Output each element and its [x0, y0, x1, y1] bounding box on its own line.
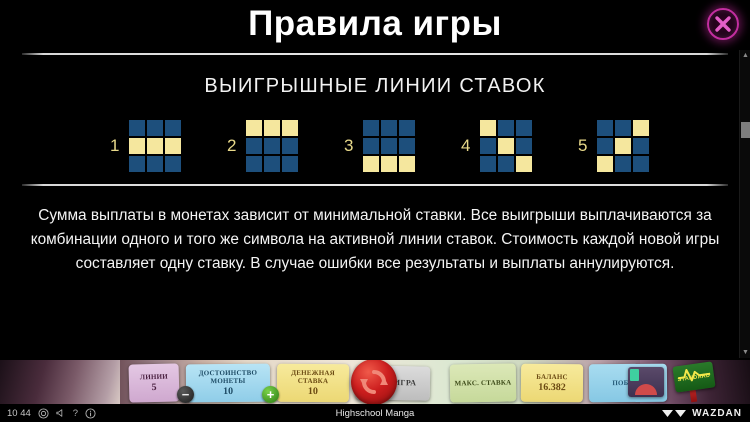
- payline-cell-inactive: [129, 156, 145, 172]
- payline-cell-inactive: [363, 120, 379, 136]
- brand-name: WAZDAN: [692, 408, 742, 419]
- payline-cell-inactive: [516, 138, 532, 154]
- wazdan-logo-icon: [662, 408, 688, 419]
- payline-number: 4: [459, 136, 471, 156]
- balance-value: 16.382: [538, 382, 566, 393]
- payline-cell-inactive: [129, 120, 145, 136]
- payline-item: 1: [108, 120, 181, 172]
- payline-cell-inactive: [498, 156, 514, 172]
- help-icon[interactable]: ?: [73, 408, 78, 419]
- lines-caption: ЛИНИИ: [140, 373, 168, 382]
- game-thumbnail-icon[interactable]: [628, 367, 664, 397]
- volatility-badge[interactable]: STANDARD: [672, 362, 716, 402]
- settings-icon[interactable]: [38, 408, 49, 419]
- payline-number: 1: [108, 136, 120, 156]
- payline-grid: [480, 120, 532, 172]
- clock-time: 10 44: [7, 408, 31, 419]
- paylines-subtitle: ВЫИГРЫШНЫЕ ЛИНИИ СТАВОК: [0, 75, 750, 98]
- payline-cell-active: [264, 120, 280, 136]
- rules-paragraph: Сумма выплаты в монетах зависит от миним…: [22, 204, 728, 276]
- max-bet-caption: МАКС. СТАВКА: [455, 379, 512, 388]
- payline-cell-inactive: [597, 120, 613, 136]
- payline-cell-active: [363, 156, 379, 172]
- payline-cell-inactive: [516, 120, 532, 136]
- payline-cell-active: [498, 138, 514, 154]
- payline-cell-active: [129, 138, 145, 154]
- dome-shape: [635, 384, 657, 395]
- payline-cell-active: [615, 138, 631, 154]
- cash-bet-value: 10: [308, 386, 318, 397]
- payline-item: 4: [459, 120, 532, 172]
- payline-grid: [597, 120, 649, 172]
- payline-cell-inactive: [246, 138, 262, 154]
- payline-grid: [363, 120, 415, 172]
- lines-value: 5: [151, 382, 156, 393]
- payline-cell-active: [282, 120, 298, 136]
- payline-cell-inactive: [264, 156, 280, 172]
- payline-cell-inactive: [282, 138, 298, 154]
- payline-item: 2: [225, 120, 298, 172]
- spin-button[interactable]: [351, 360, 397, 404]
- game-title-status: Highschool Manga: [0, 408, 750, 419]
- payline-cell-inactive: [615, 156, 631, 172]
- payline-number: 5: [576, 136, 588, 156]
- scroll-up-arrow[interactable]: ▲: [740, 50, 750, 61]
- payline-cell-inactive: [363, 138, 379, 154]
- paylines-row: 12345: [0, 120, 750, 172]
- status-bar: 10 44 ? Highschool Manga WAZDAN: [0, 404, 750, 422]
- payline-cell-inactive: [399, 120, 415, 136]
- cash-bet-caption: ДЕНЕЖНАЯ СТАВКА: [277, 369, 349, 386]
- payline-cell-inactive: [381, 120, 397, 136]
- page-title: Правила игры: [0, 0, 750, 44]
- payline-cell-active: [633, 120, 649, 136]
- payline-cell-active: [516, 156, 532, 172]
- payline-cell-inactive: [480, 156, 496, 172]
- scrollbar-thumb[interactable]: [741, 122, 750, 138]
- payline-cell-active: [246, 120, 262, 136]
- status-left-group: 10 44 ?: [0, 408, 96, 419]
- game-control-bar: ЛИНИИ 5 ДОСТОИНСТВО МОНЕТЫ 10 ДЕНЕЖНАЯ С…: [0, 360, 750, 404]
- increase-button[interactable]: +: [262, 386, 279, 403]
- cash-bet-button[interactable]: ДЕНЕЖНАЯ СТАВКА 10: [277, 364, 349, 403]
- payline-cell-inactive: [165, 120, 181, 136]
- balance-caption: БАЛАНС: [536, 373, 568, 381]
- coin-value-button[interactable]: ДОСТОИНСТВО МОНЕТЫ 10: [186, 364, 270, 403]
- payline-item: 5: [576, 120, 649, 172]
- close-button[interactable]: [704, 5, 742, 43]
- payline-number: 3: [342, 136, 354, 156]
- divider-bottom: [22, 184, 728, 186]
- payline-cell-inactive: [165, 156, 181, 172]
- max-bet-button[interactable]: МАКС. СТАВКА: [450, 363, 517, 402]
- spin-icon: [358, 366, 390, 398]
- divider-top: [22, 53, 728, 55]
- payline-cell-inactive: [498, 120, 514, 136]
- payline-cell-inactive: [480, 138, 496, 154]
- brand-group: WAZDAN: [662, 408, 742, 419]
- payline-cell-inactive: [615, 120, 631, 136]
- payline-cell-active: [147, 138, 163, 154]
- lines-button[interactable]: ЛИНИИ 5: [129, 363, 180, 402]
- sound-icon[interactable]: [56, 408, 66, 418]
- payline-cell-active: [480, 120, 496, 136]
- payline-grid: [129, 120, 181, 172]
- chip-shape: [630, 369, 639, 381]
- scroll-down-arrow[interactable]: ▼: [740, 347, 750, 358]
- payline-cell-active: [165, 138, 181, 154]
- payline-cell-active: [597, 156, 613, 172]
- decrease-button[interactable]: −: [177, 386, 194, 403]
- payline-cell-inactive: [147, 156, 163, 172]
- payline-cell-inactive: [381, 138, 397, 154]
- info-icon[interactable]: [85, 408, 96, 419]
- payline-cell-inactive: [264, 138, 280, 154]
- payline-cell-inactive: [246, 156, 262, 172]
- payline-item: 3: [342, 120, 415, 172]
- rules-overlay: Правила игры ВЫИГРЫШНЫЕ ЛИНИИ СТАВОК 123…: [0, 0, 750, 360]
- payline-cell-inactive: [147, 120, 163, 136]
- control-panel: ЛИНИИ 5 ДОСТОИНСТВО МОНЕТЫ 10 ДЕНЕЖНАЯ С…: [0, 360, 750, 404]
- coin-value-caption: ДОСТОИНСТВО МОНЕТЫ: [186, 369, 270, 386]
- rules-scrollbar[interactable]: ▲ ▼: [739, 50, 750, 358]
- close-icon: [713, 14, 733, 34]
- payline-cell-inactive: [282, 156, 298, 172]
- payline-cell-active: [399, 156, 415, 172]
- payline-cell-inactive: [633, 138, 649, 154]
- payline-cell-inactive: [399, 138, 415, 154]
- payline-cell-inactive: [597, 138, 613, 154]
- payline-cell-active: [381, 156, 397, 172]
- payline-grid: [246, 120, 298, 172]
- coin-value-value: 10: [223, 386, 233, 397]
- payline-number: 2: [225, 136, 237, 156]
- balance-display[interactable]: БАЛАНС 16.382: [521, 364, 583, 403]
- payline-cell-inactive: [633, 156, 649, 172]
